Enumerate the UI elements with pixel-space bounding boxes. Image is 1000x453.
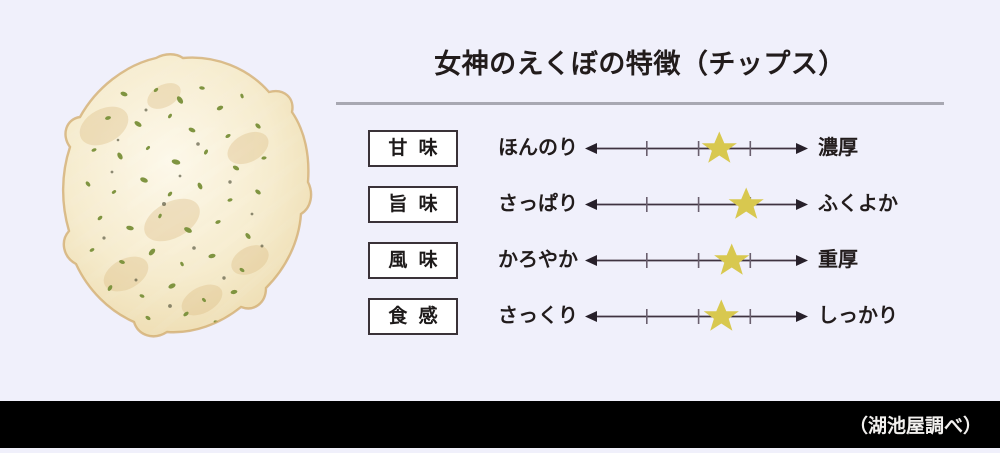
rating-star-icon <box>702 132 737 163</box>
axis-arrow-left-icon <box>585 143 597 154</box>
scale-high-label: 濃厚 <box>818 130 858 167</box>
rating-scale <box>585 130 808 167</box>
scale-axis-svg <box>585 298 808 335</box>
axis-arrow-left-icon <box>585 199 597 210</box>
scale-low-label: さっぱり <box>456 186 578 223</box>
axis-arrow-right-icon <box>796 255 808 266</box>
title-divider <box>336 102 944 105</box>
footer-band: （湖池屋調べ） <box>0 401 1000 448</box>
rating-scale <box>585 298 808 335</box>
rating-star-icon <box>704 300 739 331</box>
characteristics-panel: 女神のえくぼの特徴（チップス） 甘 味 ほんのり <box>336 44 944 344</box>
axis-arrow-right-icon <box>796 199 808 210</box>
infographic-stage: 女神のえくぼの特徴（チップス） 甘 味 ほんのり <box>0 0 1000 448</box>
scale-axis-svg <box>585 186 808 223</box>
scale-low-label: かろやか <box>456 242 578 279</box>
attribute-tag: 風 味 <box>368 242 458 279</box>
attribute-tag: 甘 味 <box>368 130 458 167</box>
product-chip-image <box>52 52 314 340</box>
attribute-row-sweetness: 甘 味 ほんのり 濃厚 <box>336 122 944 178</box>
potato-chip-illustration <box>52 52 314 340</box>
rating-scale <box>585 186 808 223</box>
scale-axis-svg <box>585 242 808 279</box>
attribute-row-flavor: 風 味 かろやか 重厚 <box>336 234 944 290</box>
attribute-row-umami: 旨 味 さっぱり ふくよか <box>336 178 944 234</box>
scale-low-label: ほんのり <box>456 130 578 167</box>
scale-low-label: さっくり <box>456 298 578 335</box>
attribute-row-texture: 食 感 さっくり しっかり <box>336 290 944 346</box>
attribute-tag: 食 感 <box>368 298 458 335</box>
chip-body <box>52 52 314 340</box>
axis-arrow-right-icon <box>796 143 808 154</box>
source-note: （湖池屋調べ） <box>849 401 982 448</box>
attribute-tag: 旨 味 <box>368 186 458 223</box>
rating-star-icon <box>729 188 764 219</box>
rating-star-icon <box>714 244 749 275</box>
scale-high-label: しっかり <box>818 298 898 335</box>
scale-high-label: ふくよか <box>818 186 898 223</box>
scale-high-label: 重厚 <box>818 242 858 279</box>
axis-arrow-left-icon <box>585 311 597 322</box>
page-title: 女神のえくぼの特徴（チップス） <box>336 44 944 86</box>
attribute-rows: 甘 味 ほんのり 濃厚 <box>336 122 944 346</box>
rating-scale <box>585 242 808 279</box>
axis-arrow-right-icon <box>796 311 808 322</box>
axis-arrow-left-icon <box>585 255 597 266</box>
scale-axis-svg <box>585 130 808 167</box>
